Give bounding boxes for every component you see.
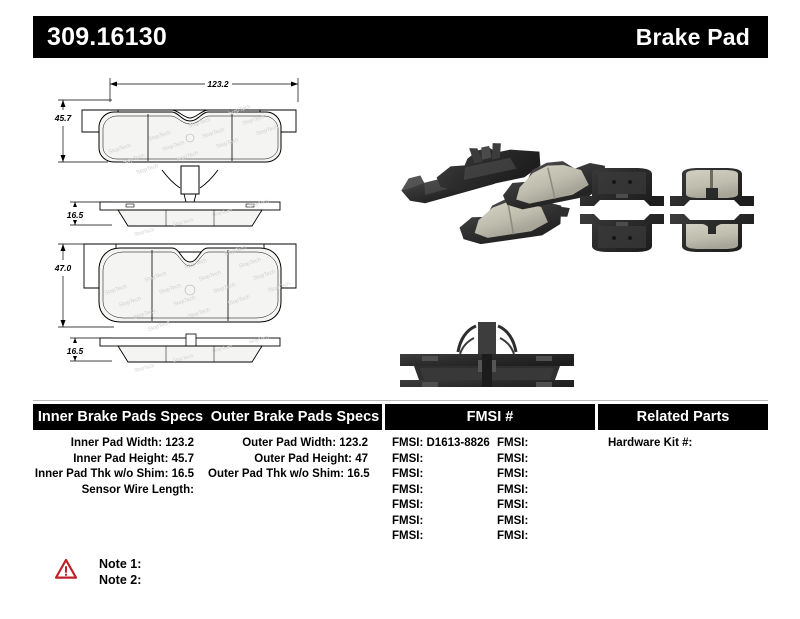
fmsi-item: FMSI: D1613-8826 [385,436,490,452]
table-body-row: Inner Pad Width: 123.2 Inner Pad Height:… [33,436,768,545]
fmsi-item: FMSI: [490,483,595,499]
warning-triangle-icon [55,559,77,579]
outer-specs-column: Outer Pad Width: 123.2 Outer Pad Height:… [208,436,382,545]
inner-spec-item: Sensor Wire Length: [33,483,208,499]
spec-table: Inner Brake Pads Specs Outer Brake Pads … [33,400,768,545]
fmsi-subcolumn-right: FMSI: FMSI: FMSI: FMSI: FMSI: FMSI: FMSI… [490,436,595,545]
fmsi-item: FMSI: [490,467,595,483]
fmsi-item: FMSI: [385,452,490,468]
column-header-related-parts: Related Parts [598,404,768,430]
fmsi-column: FMSI: D1613-8826 FMSI: FMSI: FMSI: FMSI:… [385,436,595,545]
inner-spec-item: Inner Pad Width: 123.2 [33,436,208,452]
fmsi-item: FMSI: [490,452,595,468]
header-bar: 309.16130 Brake Pad [33,16,768,58]
product-photos [0,62,800,387]
fmsi-item: FMSI: [490,529,595,545]
inner-specs-column: Inner Pad Width: 123.2 Inner Pad Height:… [33,436,208,545]
inner-spec-item: Inner Pad Thk w/o Shim: 16.5 [33,467,208,483]
fmsi-subcolumn-left: FMSI: D1613-8826 FMSI: FMSI: FMSI: FMSI:… [385,436,490,545]
table-top-rule [33,400,768,401]
outer-spec-item: Outer Pad Thk w/o Shim: 16.5 [208,467,382,483]
column-header-inner-specs: Inner Brake Pads Specs [33,404,208,430]
photo-flat-pad-grid [580,168,754,252]
fmsi-item: FMSI: [385,529,490,545]
note-lines: Note 1: Note 2: [99,556,141,588]
note-1: Note 1: [99,556,141,572]
related-part-item: Hardware Kit #: [598,436,768,452]
fmsi-item: FMSI: [385,498,490,514]
part-number: 309.16130 [47,25,167,50]
related-parts-column: Hardware Kit #: [598,436,768,545]
column-header-fmsi: FMSI # [385,404,595,430]
outer-spec-item: Outer Pad Height: 47 [208,452,382,468]
fmsi-item: FMSI: [490,436,595,452]
fmsi-item: FMSI: [385,483,490,499]
fmsi-item: FMSI: [490,498,595,514]
product-category: Brake Pad [636,26,750,49]
column-header-outer-specs: Outer Brake Pads Specs [208,404,382,430]
fmsi-item: FMSI: [385,514,490,530]
inner-spec-item: Inner Pad Height: 45.7 [33,452,208,468]
photo-edge-view-pads [400,322,574,387]
outer-spec-item: Outer Pad Width: 123.2 [208,436,382,452]
note-2: Note 2: [99,572,141,588]
fmsi-item: FMSI: [490,514,595,530]
photos-svg [0,62,800,387]
table-header-row: Inner Brake Pads Specs Outer Brake Pads … [33,404,768,430]
fmsi-item: FMSI: [385,467,490,483]
notes-section: Note 1: Note 2: [55,556,141,588]
photo-angled-pad-set [399,134,615,249]
